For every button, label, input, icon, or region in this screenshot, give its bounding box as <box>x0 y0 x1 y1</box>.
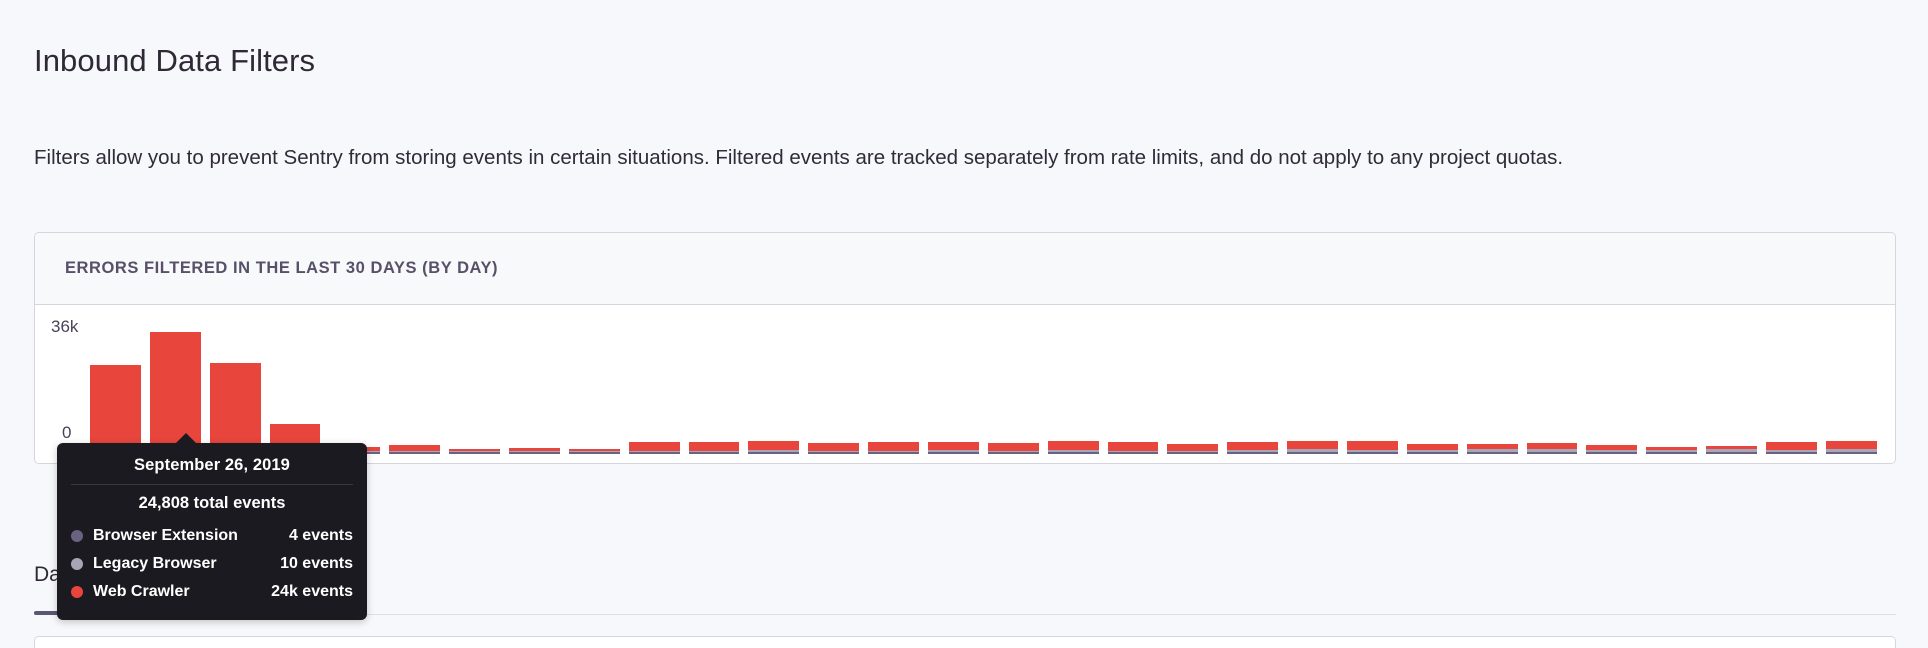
bar-segment <box>1227 452 1278 454</box>
bar-segment <box>1646 452 1697 454</box>
tooltip-arrow-icon <box>175 433 197 444</box>
tooltip-total-events: 24,808 total events <box>139 494 286 512</box>
bar-column[interactable] <box>629 326 680 454</box>
bar-segment <box>389 452 440 454</box>
bar-column[interactable] <box>329 326 380 454</box>
bar-column[interactable] <box>449 326 500 454</box>
bar-segment <box>748 441 799 450</box>
chart-card-title: ERRORS FILTERED IN THE LAST 30 DAYS (BY … <box>65 259 498 278</box>
bar-segment <box>1167 452 1218 454</box>
bar-segment <box>1287 441 1338 449</box>
tooltip-series-row: Web Crawler24k events <box>71 578 353 606</box>
bar-column[interactable] <box>1586 326 1637 454</box>
bar-segment <box>569 452 620 454</box>
chart-tooltip: September 26, 2019 24,808 total events B… <box>57 443 367 620</box>
tooltip-date: September 26, 2019 <box>71 456 353 484</box>
bar-column[interactable] <box>1706 326 1757 454</box>
series-name: Legacy Browser <box>93 555 217 573</box>
bar-segment <box>90 365 141 450</box>
series-value: 24k events <box>259 583 353 601</box>
bar-column[interactable] <box>1167 326 1218 454</box>
bar-column[interactable] <box>988 326 1039 454</box>
bar-segment <box>1766 442 1817 449</box>
tooltip-series-row: Browser Extension4 events <box>71 522 353 550</box>
bar-column[interactable] <box>1646 326 1697 454</box>
bar-series-container[interactable] <box>90 326 1877 454</box>
bar-column[interactable] <box>1108 326 1159 454</box>
bar-segment <box>1108 452 1159 454</box>
bar-segment <box>449 452 500 454</box>
bar-column[interactable] <box>210 326 261 454</box>
bar-column[interactable] <box>1347 326 1398 454</box>
bar-segment <box>1167 444 1218 451</box>
bar-column[interactable] <box>1826 326 1877 454</box>
bar-segment <box>1467 452 1518 454</box>
bar-segment <box>1227 442 1278 449</box>
series-color-dot-icon <box>71 530 83 542</box>
y-axis-zero-label: 0 <box>62 423 71 443</box>
bar-segment <box>1108 442 1159 451</box>
bar-column[interactable] <box>868 326 919 454</box>
bar-segment <box>868 442 919 451</box>
bar-segment <box>988 443 1039 451</box>
bar-segment <box>629 452 680 454</box>
page-title: Inbound Data Filters <box>34 43 315 79</box>
y-axis-max-label: 36k <box>51 317 78 337</box>
bar-column[interactable] <box>509 326 560 454</box>
bar-segment <box>1766 452 1817 454</box>
bar-segment <box>928 452 979 454</box>
bar-column[interactable] <box>569 326 620 454</box>
bar-segment <box>1826 441 1877 449</box>
bar-column[interactable] <box>928 326 979 454</box>
bar-column[interactable] <box>1467 326 1518 454</box>
bar-segment <box>748 452 799 454</box>
series-name: Browser Extension <box>93 527 238 545</box>
series-color-dot-icon <box>71 558 83 570</box>
series-color-dot-icon <box>71 586 83 598</box>
page-description: Filters allow you to prevent Sentry from… <box>34 139 1874 177</box>
bar-chart[interactable] <box>90 315 1877 454</box>
bar-column[interactable] <box>389 326 440 454</box>
bar-column[interactable] <box>748 326 799 454</box>
bar-column[interactable] <box>90 326 141 454</box>
series-value: 4 events <box>277 527 353 545</box>
bar-segment <box>1407 452 1458 454</box>
bar-column[interactable] <box>1048 326 1099 454</box>
bar-segment <box>1347 441 1398 450</box>
bar-segment <box>1287 452 1338 454</box>
bar-segment <box>808 443 859 451</box>
bar-segment <box>689 452 740 454</box>
bar-column[interactable] <box>808 326 859 454</box>
bar-column[interactable] <box>1287 326 1338 454</box>
bar-segment <box>1586 452 1637 454</box>
bar-column[interactable] <box>270 326 321 454</box>
bar-column[interactable] <box>689 326 740 454</box>
bar-segment <box>928 442 979 450</box>
chart-card-header: ERRORS FILTERED IN THE LAST 30 DAYS (BY … <box>35 233 1895 305</box>
bar-segment <box>1048 452 1099 454</box>
tooltip-total-row: 24,808 total events <box>71 484 353 513</box>
page-root: Inbound Data Filters Filters allow you t… <box>0 0 1928 648</box>
data-filters-card <box>34 636 1896 648</box>
bar-segment <box>1527 452 1578 454</box>
bar-segment <box>210 363 261 451</box>
tooltip-series-rows: Browser Extension4 eventsLegacy Browser1… <box>71 522 353 606</box>
bar-column[interactable] <box>1227 326 1278 454</box>
bar-segment <box>868 452 919 454</box>
bar-segment <box>1048 441 1099 450</box>
bar-segment <box>689 442 740 451</box>
bar-segment <box>509 452 560 454</box>
bar-segment <box>629 442 680 451</box>
errors-filtered-chart-card: ERRORS FILTERED IN THE LAST 30 DAYS (BY … <box>34 232 1896 464</box>
bar-segment <box>1826 452 1877 454</box>
series-value: 10 events <box>268 555 353 573</box>
bar-column[interactable] <box>1527 326 1578 454</box>
bar-column[interactable] <box>1407 326 1458 454</box>
bar-segment <box>1706 452 1757 454</box>
bar-column[interactable] <box>1766 326 1817 454</box>
tooltip-series-row: Legacy Browser10 events <box>71 550 353 578</box>
bar-segment <box>988 452 1039 454</box>
bar-segment <box>1347 452 1398 454</box>
chart-plot-area[interactable]: 36k 0 <box>35 305 1895 464</box>
bar-segment <box>808 452 859 454</box>
series-name: Web Crawler <box>93 583 190 601</box>
